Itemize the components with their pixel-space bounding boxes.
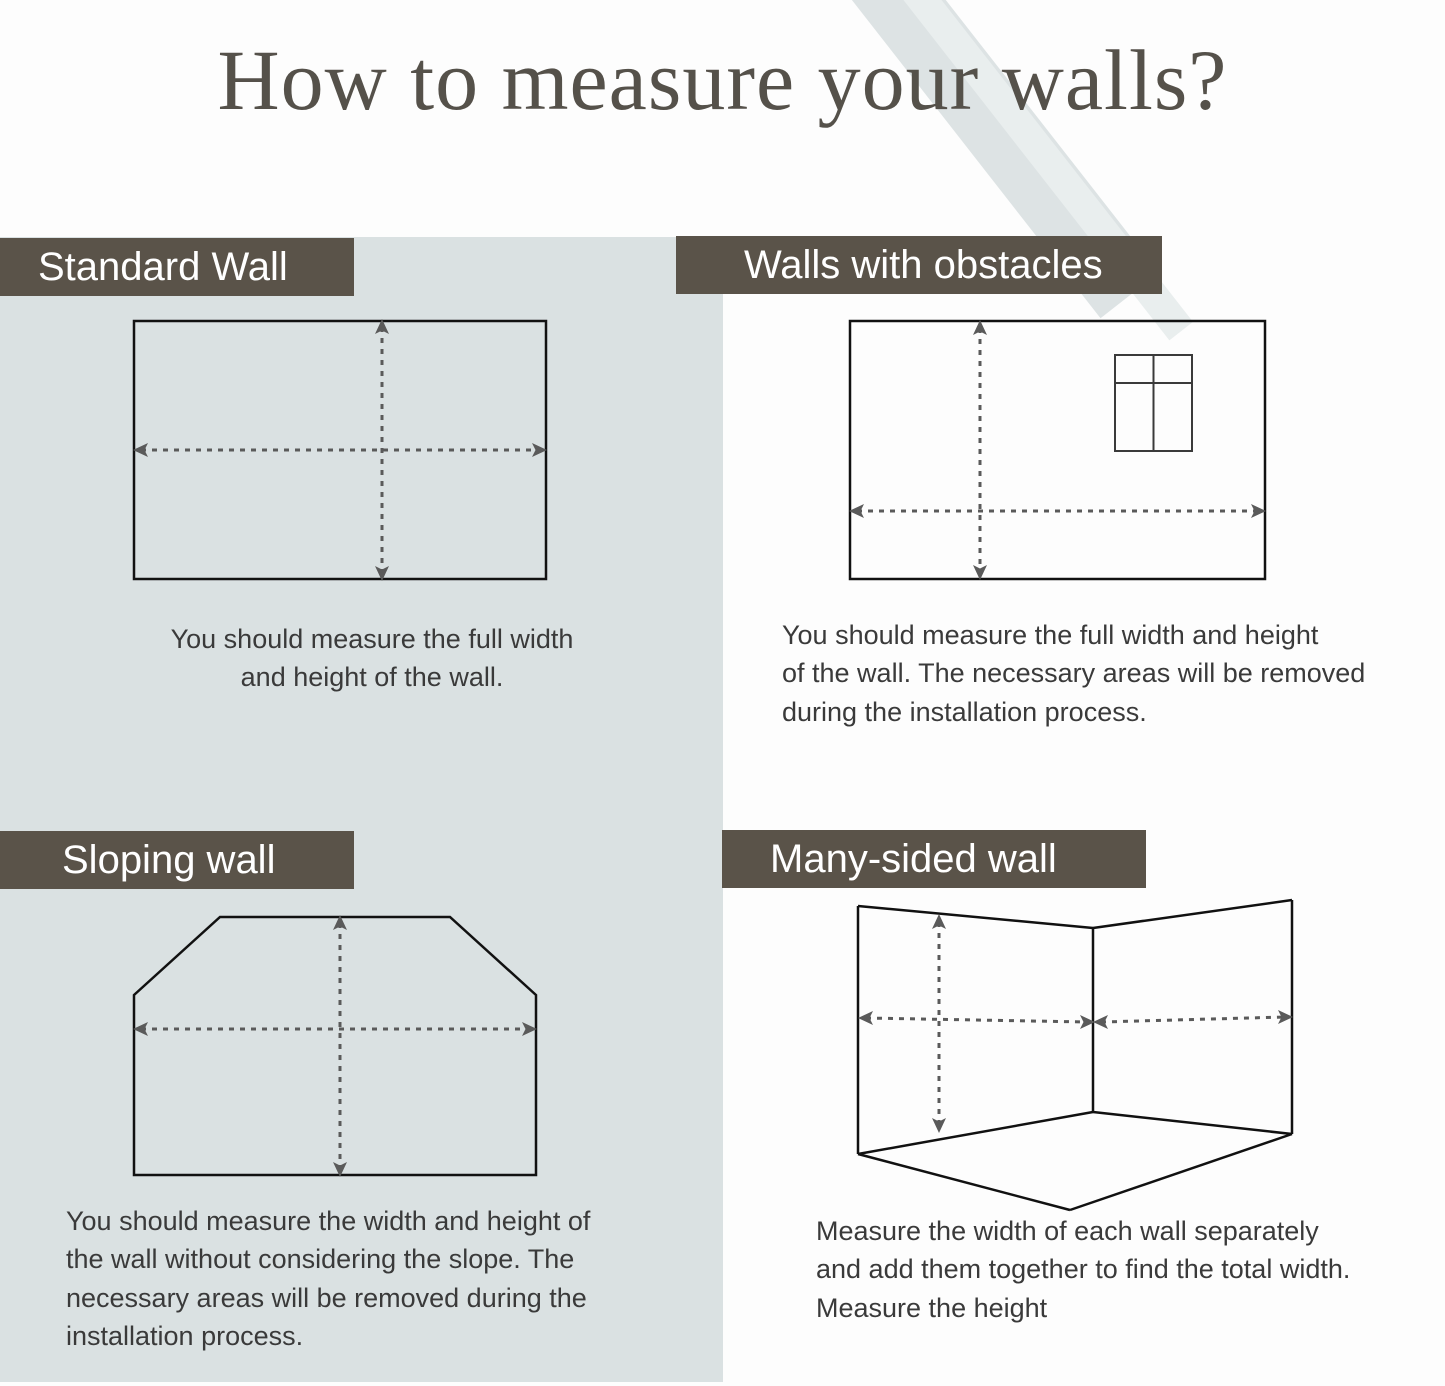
section-header-walls-with-obstacles: Walls with obstacles: [676, 236, 1162, 294]
height-measure-arrow: [333, 915, 347, 1177]
section-header-sloping-wall: Sloping wall: [0, 831, 354, 889]
section-header-label: Sloping wall: [62, 840, 275, 880]
right-wall-width-measure-arrow: [1093, 1010, 1293, 1029]
corner-room-outline: [858, 900, 1292, 1210]
sloping-wall-outline: [134, 917, 536, 1175]
height-measure-arrow: [973, 320, 987, 580]
page-title: How to measure your walls?: [0, 30, 1445, 130]
caption-standard-wall: You should measure the full width and he…: [112, 620, 632, 697]
infographic-page: How to measure your walls? Standard Wall: [0, 0, 1445, 1386]
height-measure-arrow: [932, 914, 946, 1133]
section-header-label: Standard Wall: [38, 247, 288, 287]
width-measure-arrow: [133, 443, 547, 457]
wall-outline-rect: [850, 321, 1265, 579]
section-header-many-sided-wall: Many-sided wall: [722, 830, 1146, 888]
diagram-walls-with-obstacles: [830, 300, 1290, 600]
diagram-sloping-wall: [110, 895, 580, 1205]
diagram-many-sided-wall: [845, 890, 1305, 1220]
left-wall-width-measure-arrow: [858, 1011, 1095, 1029]
window-obstacle-icon: [1115, 355, 1192, 451]
section-header-label: Many-sided wall: [770, 839, 1057, 879]
caption-sloping-wall: You should measure the width and height …: [66, 1202, 666, 1355]
caption-walls-with-obstacles: You should measure the full width and he…: [782, 616, 1422, 731]
section-header-standard-wall: Standard Wall: [0, 238, 354, 296]
caption-many-sided-wall: Measure the width of each wall separatel…: [816, 1212, 1426, 1327]
width-measure-arrow: [133, 1022, 537, 1036]
width-measure-arrow: [849, 504, 1266, 518]
section-header-label: Walls with obstacles: [744, 245, 1103, 285]
diagram-standard-wall: [110, 300, 580, 600]
